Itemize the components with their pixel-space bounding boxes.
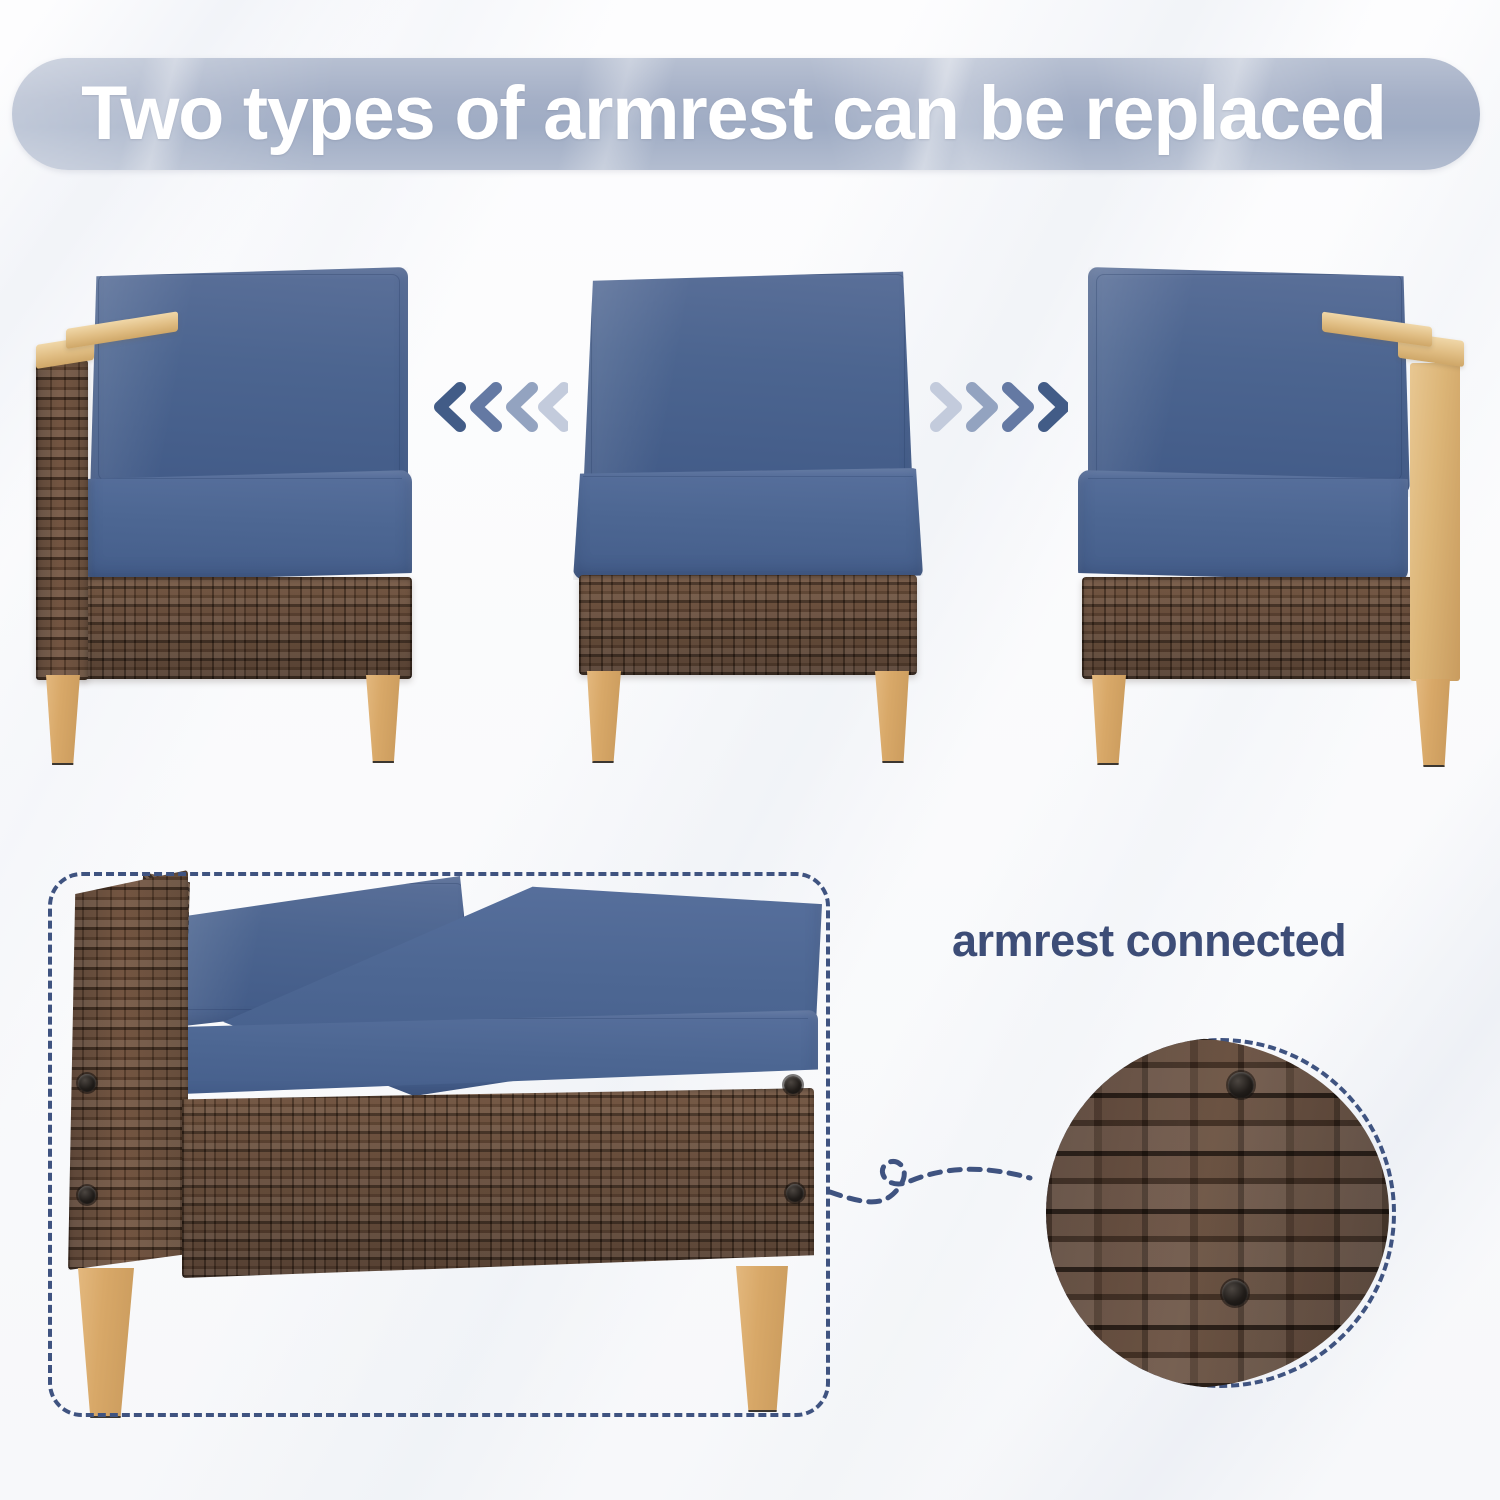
wicker-base	[579, 575, 917, 675]
wicker-detail-circle	[1046, 1038, 1396, 1388]
chair-left-armrest	[28, 255, 428, 780]
back-cushion	[583, 267, 913, 497]
bolt-icon	[1228, 1072, 1254, 1098]
left-chevron-icon	[428, 378, 568, 436]
leg-front-right	[1416, 679, 1450, 767]
right-chevron-icon	[928, 378, 1068, 436]
leg-front-left	[587, 671, 621, 763]
leg-front-left	[46, 675, 80, 765]
callout-dashed-box	[48, 872, 830, 1417]
armrest-wicker-panel	[36, 360, 88, 680]
header-banner: Two types of armrest can be replaced	[12, 58, 1480, 170]
chair-armless	[565, 255, 935, 780]
back-cushion	[90, 267, 408, 497]
seat-cushion	[573, 468, 923, 580]
right-chevrons	[928, 378, 1068, 436]
armrest-wood-panel	[1410, 363, 1460, 681]
seat-cushion	[1078, 470, 1408, 582]
page-title: Two types of armrest can be replaced	[15, 76, 1385, 152]
leg-front-left	[1092, 675, 1126, 765]
leg-front-right	[875, 671, 909, 763]
left-chevrons	[428, 378, 568, 436]
seat-cushion	[86, 470, 412, 582]
bolt-icon	[1222, 1280, 1248, 1306]
wicker-base	[1082, 577, 1414, 679]
back-cushion	[1088, 267, 1410, 497]
armrest-connected-label: armrest connected	[952, 915, 1346, 967]
leg-front-right	[366, 675, 400, 763]
wicker-weave-closeup	[1046, 1038, 1396, 1388]
wicker-base	[80, 577, 412, 679]
chair-right-armrest	[1070, 255, 1470, 780]
